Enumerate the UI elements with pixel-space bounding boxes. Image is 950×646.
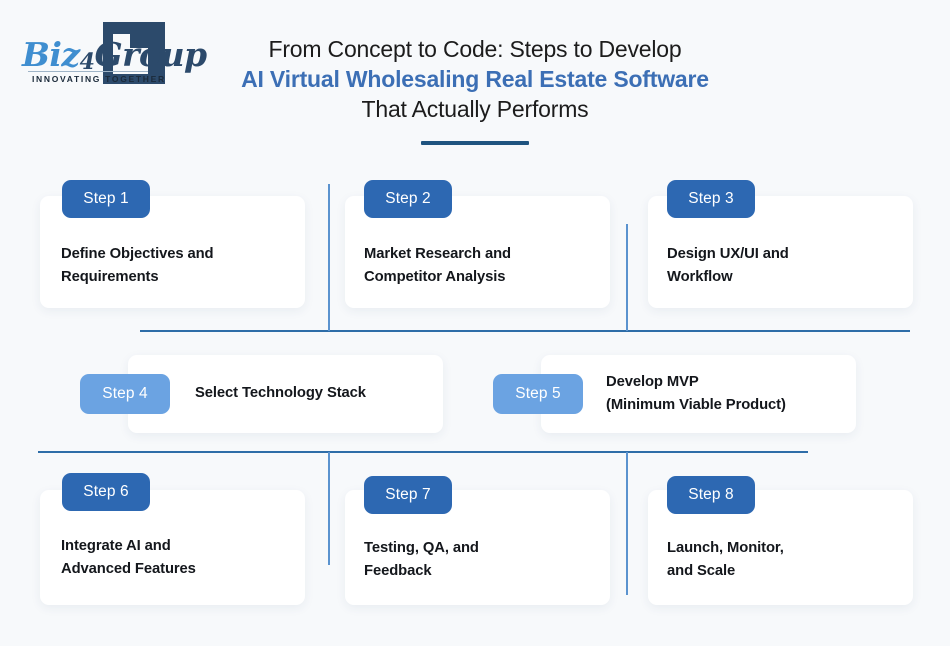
step-text-8: Launch, Monitor, and Scale — [667, 537, 907, 583]
step-text-4: Select Technology Stack — [195, 382, 435, 405]
title-underline-accent — [421, 141, 529, 145]
step-card-7[interactable]: Step 7 Testing, QA, and Feedback — [345, 490, 610, 605]
step-badge-4: Step 4 — [80, 374, 170, 414]
logo-tagline: INNOVATING TOGETHER — [32, 74, 166, 84]
step-text-6: Integrate AI and Advanced Features — [61, 535, 301, 581]
step-badge-7: Step 7 — [364, 476, 452, 514]
connector-vline-row1-left — [328, 184, 330, 331]
logo-divider — [28, 71, 148, 72]
step-card-2[interactable]: Step 2 Market Research and Competitor An… — [345, 196, 610, 308]
connector-vline-row3-right — [626, 452, 628, 595]
step-card-5[interactable]: Step 5 Develop MVP (Minimum Viable Produ… — [541, 355, 856, 433]
title-line-3: That Actually Performs — [170, 94, 780, 124]
step-badge-2: Step 2 — [364, 180, 452, 218]
title-line-2: AI Virtual Wholesaling Real Estate Softw… — [170, 64, 780, 94]
step-card-6[interactable]: Step 6 Integrate AI and Advanced Feature… — [40, 490, 305, 605]
connector-hline-row1 — [140, 330, 910, 332]
step-card-8[interactable]: Step 8 Launch, Monitor, and Scale — [648, 490, 913, 605]
step-card-4[interactable]: Step 4 Select Technology Stack — [128, 355, 443, 433]
step-badge-6: Step 6 — [62, 473, 150, 511]
step-badge-8: Step 8 — [667, 476, 755, 514]
step-text-5: Develop MVP (Minimum Viable Product) — [606, 371, 861, 417]
step-badge-1: Step 1 — [62, 180, 150, 218]
connector-hline-row2 — [38, 451, 808, 453]
step-badge-5: Step 5 — [493, 374, 583, 414]
step-badge-3: Step 3 — [667, 180, 755, 218]
step-card-1[interactable]: Step 1 Define Objectives and Requirement… — [40, 196, 305, 308]
logo-word-biz: Biz — [22, 35, 80, 74]
step-text-3: Design UX/UI and Workflow — [667, 243, 907, 289]
step-text-7: Testing, QA, and Feedback — [364, 537, 604, 583]
step-card-3[interactable]: Step 3 Design UX/UI and Workflow — [648, 196, 913, 308]
step-text-1: Define Objectives and Requirements — [61, 243, 301, 289]
page-title: From Concept to Code: Steps to Develop A… — [170, 34, 780, 145]
connector-vline-row1-right — [626, 224, 628, 331]
step-text-2: Market Research and Competitor Analysis — [364, 243, 604, 289]
connector-vline-row3-left — [328, 452, 330, 565]
title-line-1: From Concept to Code: Steps to Develop — [170, 34, 780, 64]
brand-logo: Biz4Group INNOVATING TOGETHER — [18, 22, 168, 90]
